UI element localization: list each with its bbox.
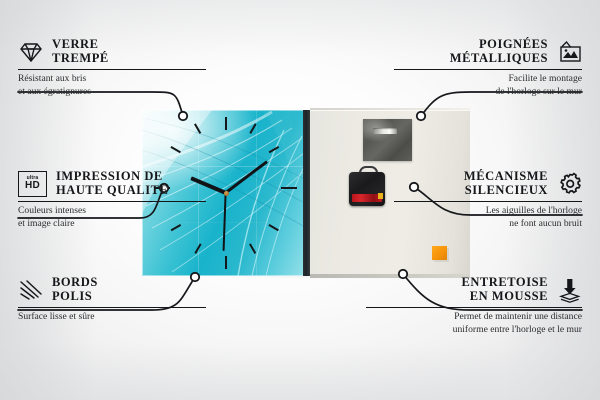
feature-verre-trempe: VERRE TREMPÉ Résistant aux bris et aux é…: [18, 38, 206, 98]
feature-desc-line1: Résistant aux bris: [18, 73, 206, 85]
feature-desc-line1: Facilite le montage: [394, 73, 582, 85]
feature-poignees-metalliques: POIGNÉES MÉTALLIQUES Facilite le montage…: [394, 38, 582, 98]
ultra-hd-icon-main: HD: [25, 181, 40, 191]
feature-title-line2: SILENCIEUX: [464, 184, 548, 198]
picture-frame-hook-icon: [557, 39, 582, 64]
feature-title-line1: VERRE: [52, 38, 109, 52]
feature-bords-polis: BORDS POLIS Surface lisse et sûre: [18, 276, 206, 324]
feature-divider: [394, 201, 582, 202]
feature-title-line1: IMPRESSION DE: [56, 170, 168, 184]
ultra-hd-icon: ultra HD: [18, 171, 47, 197]
feature-title-line2: TREMPÉ: [52, 52, 109, 66]
feature-title-line1: BORDS: [52, 276, 98, 290]
feature-desc-line2: et image claire: [18, 218, 206, 230]
clock-glass-edge: [303, 110, 310, 276]
feature-title-line2: POLIS: [52, 290, 98, 304]
feature-impression-haute-qualite: ultra HD IMPRESSION DE HAUTE QUALITÉ Cou…: [18, 170, 206, 230]
hanger-slot: [373, 128, 397, 134]
feature-divider: [394, 69, 582, 70]
foam-spacer: [432, 246, 447, 260]
feature-divider: [18, 307, 206, 308]
battery-terminal: [378, 193, 383, 199]
diamond-icon: [18, 39, 43, 64]
arrow-down-layers-icon: [557, 277, 582, 302]
diagonal-lines-icon: [18, 277, 43, 302]
feature-title-line1: ENTRETOISE: [461, 276, 548, 290]
feature-desc-line2: ne font aucun bruit: [394, 218, 582, 230]
infographic-canvas: VERRE TREMPÉ Résistant aux bris et aux é…: [0, 0, 600, 400]
gear-icon: [557, 171, 582, 196]
feature-desc-line2: et aux égratignures: [18, 86, 206, 98]
feature-desc-line1: Couleurs intenses: [18, 205, 206, 217]
feature-title-line2: EN MOUSSE: [461, 290, 548, 304]
feature-desc-line2: de l'horloge sur le mur: [394, 86, 582, 98]
feature-divider: [18, 69, 206, 70]
feature-title-line1: MÉCANISME: [464, 170, 548, 184]
feature-desc-line2: uniforme entre l'horloge et le mur: [366, 324, 582, 336]
feature-entretoise-en-mousse: ENTRETOISE EN MOUSSE Permet de maintenir…: [366, 276, 582, 336]
feature-desc-line1: Surface lisse et sûre: [18, 311, 206, 323]
feature-divider: [18, 201, 206, 202]
feature-desc-line1: Permet de maintenir une distance: [366, 311, 582, 323]
metal-hanger: [363, 119, 412, 161]
feature-title-line2: HAUTE QUALITÉ: [56, 184, 168, 198]
feature-title-line2: MÉTALLIQUES: [450, 52, 548, 66]
feature-divider: [366, 307, 582, 308]
feature-title-line1: POIGNÉES: [450, 38, 548, 52]
feature-mecanisme-silencieux: MÉCANISME SILENCIEUX Les aiguilles de l'…: [394, 170, 582, 230]
feature-desc-line1: Les aiguilles de l'horloge: [394, 205, 582, 217]
clock-center-cap: [224, 191, 229, 196]
